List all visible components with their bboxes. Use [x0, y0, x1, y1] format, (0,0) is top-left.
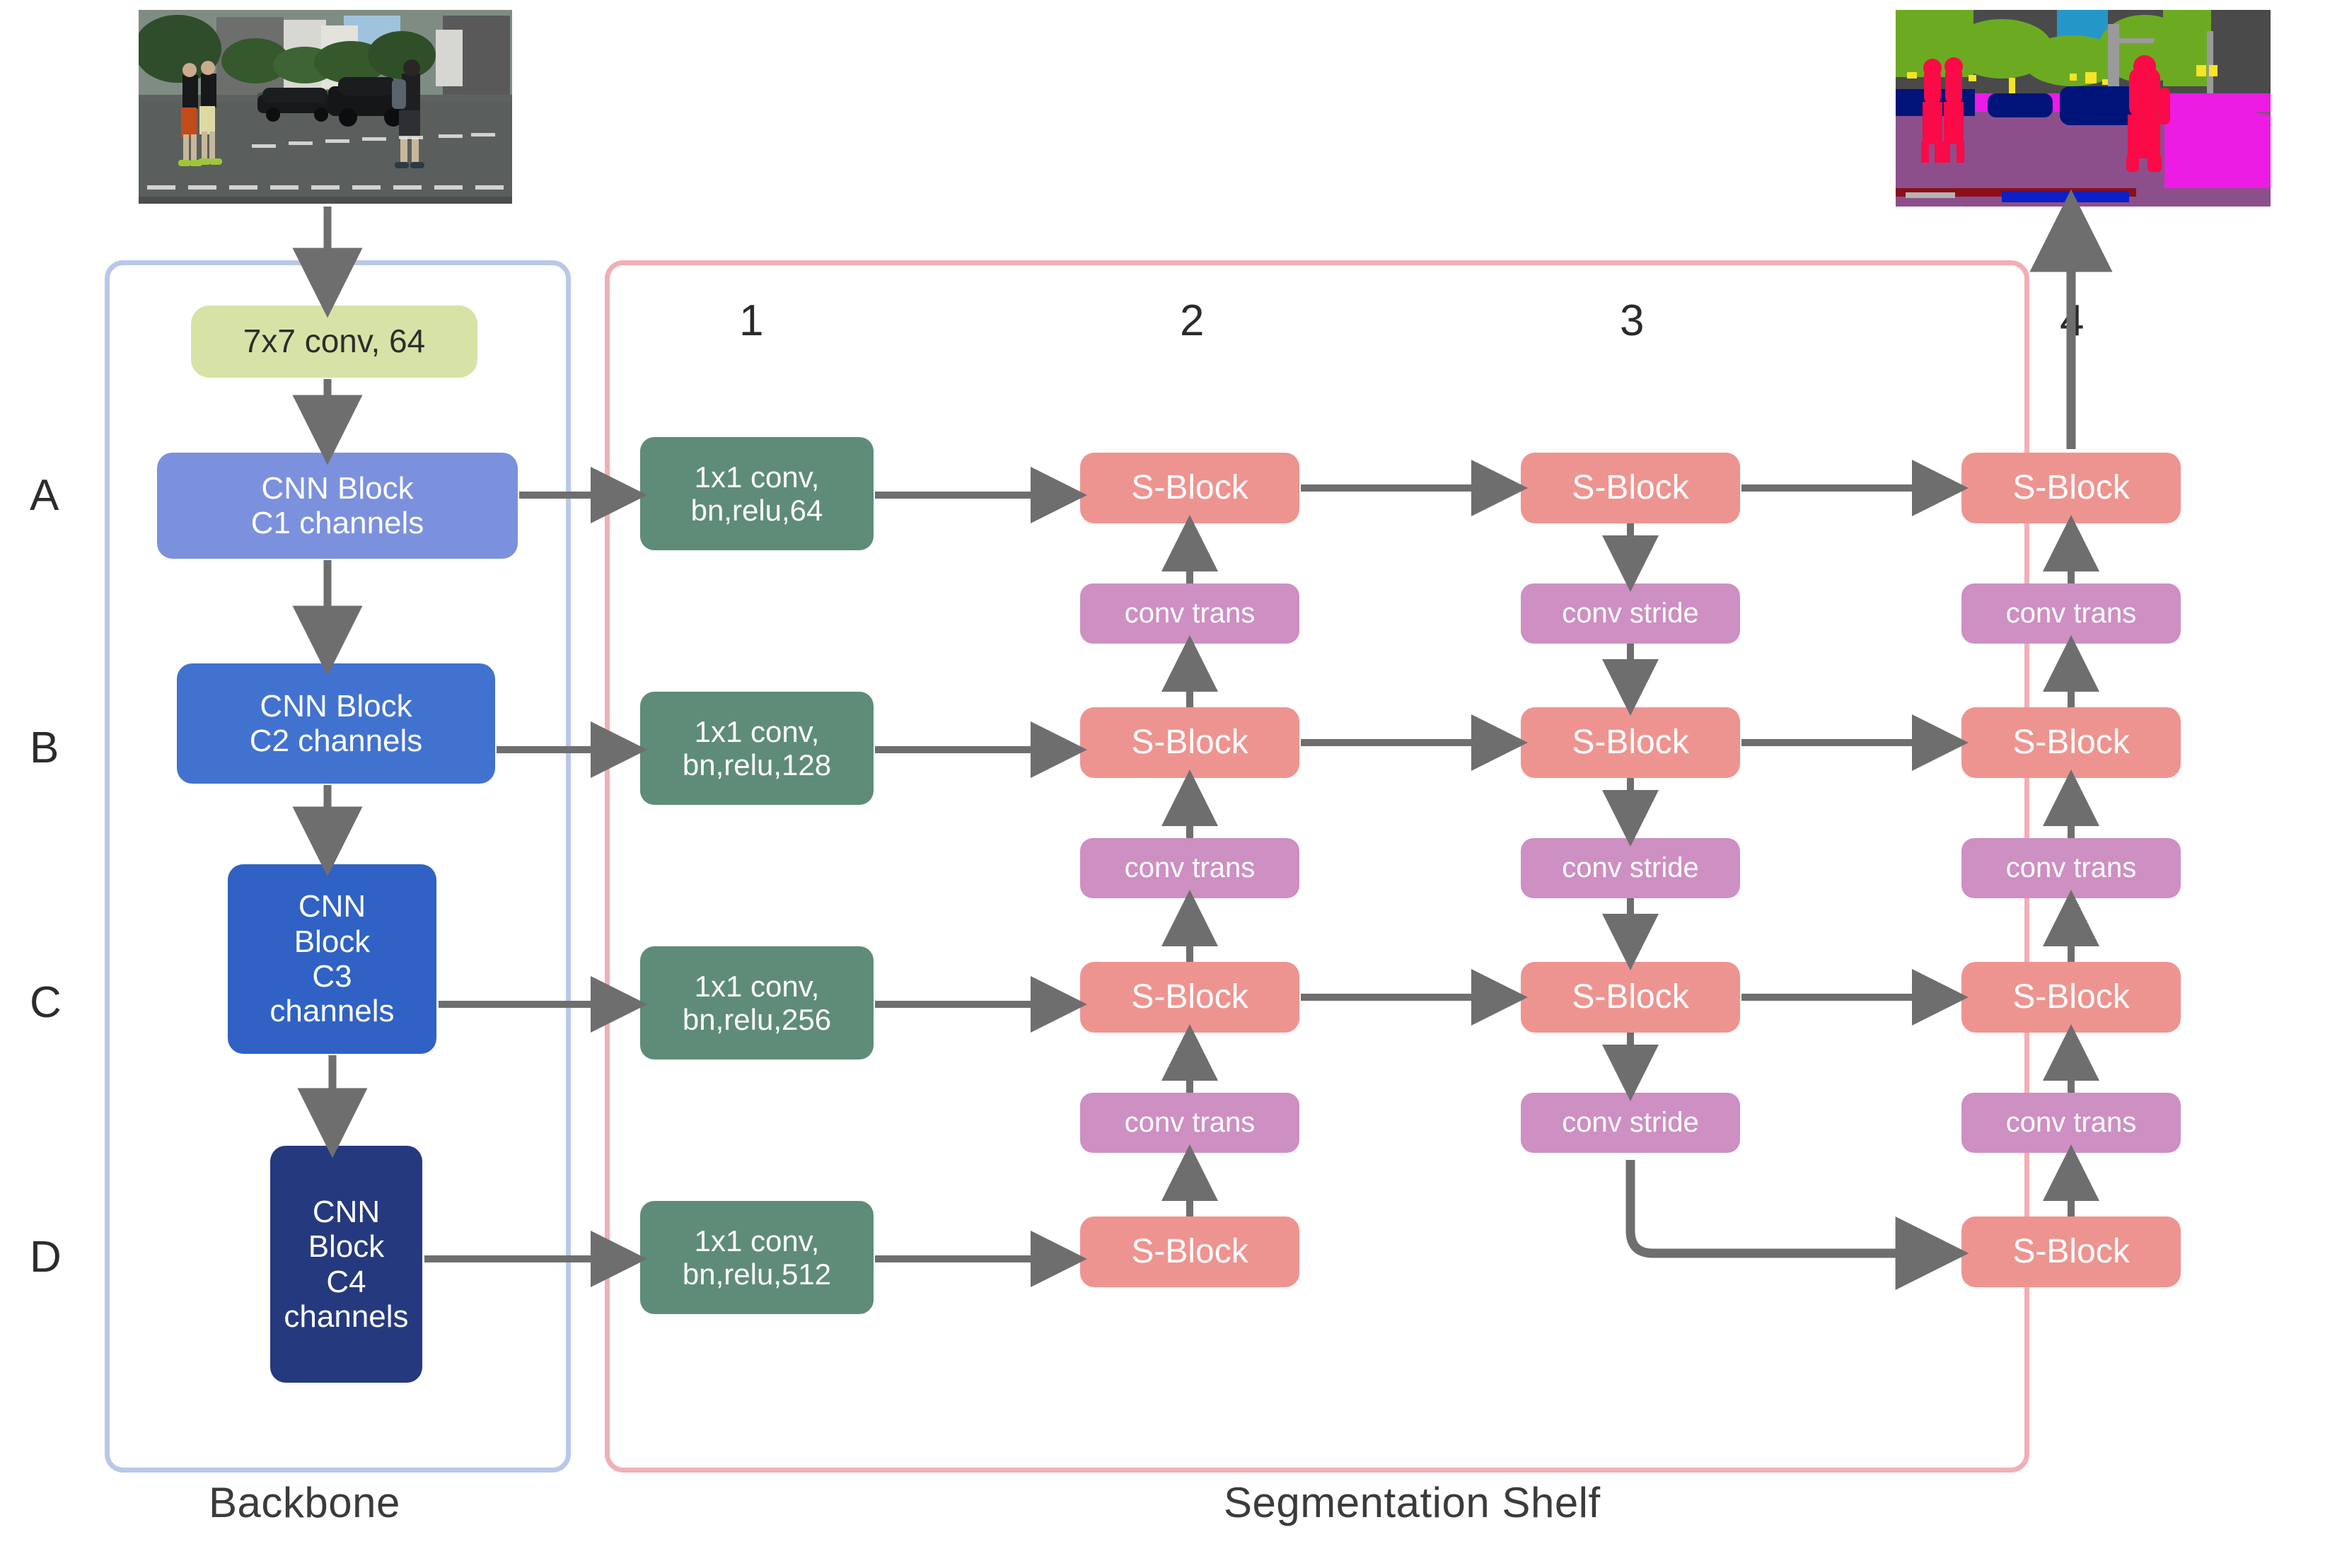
proj-conv-d-label: 1x1 conv, bn,relu,512 — [640, 1224, 874, 1291]
sblock-col2-a-label: S-Block — [1080, 469, 1299, 507]
sblock-col3-c-label: S-Block — [1521, 978, 1740, 1016]
conv-trans-col2-ab-label: conv trans — [1080, 598, 1299, 629]
sblock-col2-a[interactable]: S-Block — [1080, 453, 1299, 523]
row-label-c: C — [30, 977, 62, 1028]
sblock-col2-c-label: S-Block — [1080, 978, 1299, 1016]
stem-conv-block[interactable]: 7x7 conv, 64 — [191, 306, 477, 378]
conv-trans-col2-cd-label: conv trans — [1080, 1107, 1299, 1139]
sblock-col2-d[interactable]: S-Block — [1080, 1216, 1299, 1287]
sblock-col4-b-label: S-Block — [1961, 724, 2181, 762]
cnn-block-c2-label: CNN Block C2 channels — [177, 689, 495, 759]
proj-conv-c-label: 1x1 conv, bn,relu,256 — [640, 970, 874, 1036]
conv-stride-col3-bc-label: conv stride — [1521, 852, 1740, 884]
conv-trans-col2-bc-label: conv trans — [1080, 852, 1299, 884]
cnn-block-c4-label: CNN Block C4 channels — [270, 1195, 422, 1334]
sblock-col2-b[interactable]: S-Block — [1080, 707, 1299, 778]
sblock-col3-a[interactable]: S-Block — [1521, 453, 1740, 523]
cnn-block-c1-label: CNN Block C1 channels — [157, 471, 518, 541]
proj-conv-b[interactable]: 1x1 conv, bn,relu,128 — [640, 692, 874, 805]
proj-conv-c[interactable]: 1x1 conv, bn,relu,256 — [640, 946, 874, 1059]
cnn-block-c3-label: CNN Block C3 channels — [228, 889, 436, 1028]
sblock-col4-a[interactable]: S-Block — [1961, 453, 2181, 523]
column-label-1: 1 — [739, 296, 763, 346]
proj-conv-b-label: 1x1 conv, bn,relu,128 — [640, 715, 874, 782]
sblock-col3-b[interactable]: S-Block — [1521, 707, 1740, 778]
proj-conv-a[interactable]: 1x1 conv, bn,relu,64 — [640, 437, 874, 550]
conv-stride-col3-ab[interactable]: conv stride — [1521, 583, 1740, 644]
sblock-col4-a-label: S-Block — [1961, 469, 2181, 507]
sblock-col2-b-label: S-Block — [1080, 724, 1299, 762]
backbone-caption: Backbone — [209, 1478, 400, 1527]
conv-stride-col3-cd[interactable]: conv stride — [1521, 1093, 1740, 1153]
column-label-4: 4 — [2060, 296, 2084, 346]
cnn-block-c1[interactable]: CNN Block C1 channels — [157, 453, 518, 559]
semantic-segmentation-output — [1896, 10, 2271, 207]
sblock-col2-c[interactable]: S-Block — [1080, 962, 1299, 1033]
conv-stride-col3-cd-label: conv stride — [1521, 1107, 1740, 1139]
conv-stride-col3-ab-label: conv stride — [1521, 598, 1740, 629]
sblock-col4-b[interactable]: S-Block — [1961, 707, 2181, 778]
conv-trans-col4-bc-label: conv trans — [1961, 852, 2181, 884]
row-label-a: A — [30, 470, 59, 521]
cnn-block-c3[interactable]: CNN Block C3 channels — [228, 864, 436, 1054]
conv-trans-col4-ab-label: conv trans — [1961, 598, 2181, 629]
proj-conv-a-label: 1x1 conv, bn,relu,64 — [640, 460, 874, 527]
sblock-col4-d-label: S-Block — [1961, 1233, 2181, 1271]
input-street-scene-photo — [139, 10, 512, 204]
sblock-col4-c[interactable]: S-Block — [1961, 962, 2181, 1033]
sblock-col3-b-label: S-Block — [1521, 724, 1740, 762]
stem-conv-label: 7x7 conv, 64 — [191, 323, 477, 360]
sblock-col2-d-label: S-Block — [1080, 1233, 1299, 1271]
sblock-col3-a-label: S-Block — [1521, 469, 1740, 507]
conv-trans-col4-cd[interactable]: conv trans — [1961, 1093, 2181, 1153]
row-label-d: D — [30, 1232, 62, 1282]
column-label-2: 2 — [1180, 296, 1204, 346]
cnn-block-c4[interactable]: CNN Block C4 channels — [270, 1146, 422, 1383]
segmentation-shelf-caption: Segmentation Shelf — [1224, 1478, 1601, 1527]
conv-stride-col3-bc[interactable]: conv stride — [1521, 838, 1740, 898]
sblock-col4-d[interactable]: S-Block — [1961, 1216, 2181, 1287]
conv-trans-col2-bc[interactable]: conv trans — [1080, 838, 1299, 898]
row-label-b: B — [30, 723, 59, 773]
sblock-col3-c[interactable]: S-Block — [1521, 962, 1740, 1033]
conv-trans-col4-cd-label: conv trans — [1961, 1107, 2181, 1139]
column-label-3: 3 — [1620, 296, 1644, 346]
proj-conv-d[interactable]: 1x1 conv, bn,relu,512 — [640, 1201, 874, 1314]
conv-trans-col2-ab[interactable]: conv trans — [1080, 583, 1299, 644]
sblock-col4-c-label: S-Block — [1961, 978, 2181, 1016]
conv-trans-col4-ab[interactable]: conv trans — [1961, 583, 2181, 644]
diagram-canvas: Backbone Segmentation Shelf A B C D 1 2 … — [0, 0, 2342, 1568]
conv-trans-col4-bc[interactable]: conv trans — [1961, 838, 2181, 898]
cnn-block-c2[interactable]: CNN Block C2 channels — [177, 663, 495, 784]
conv-trans-col2-cd[interactable]: conv trans — [1080, 1093, 1299, 1153]
